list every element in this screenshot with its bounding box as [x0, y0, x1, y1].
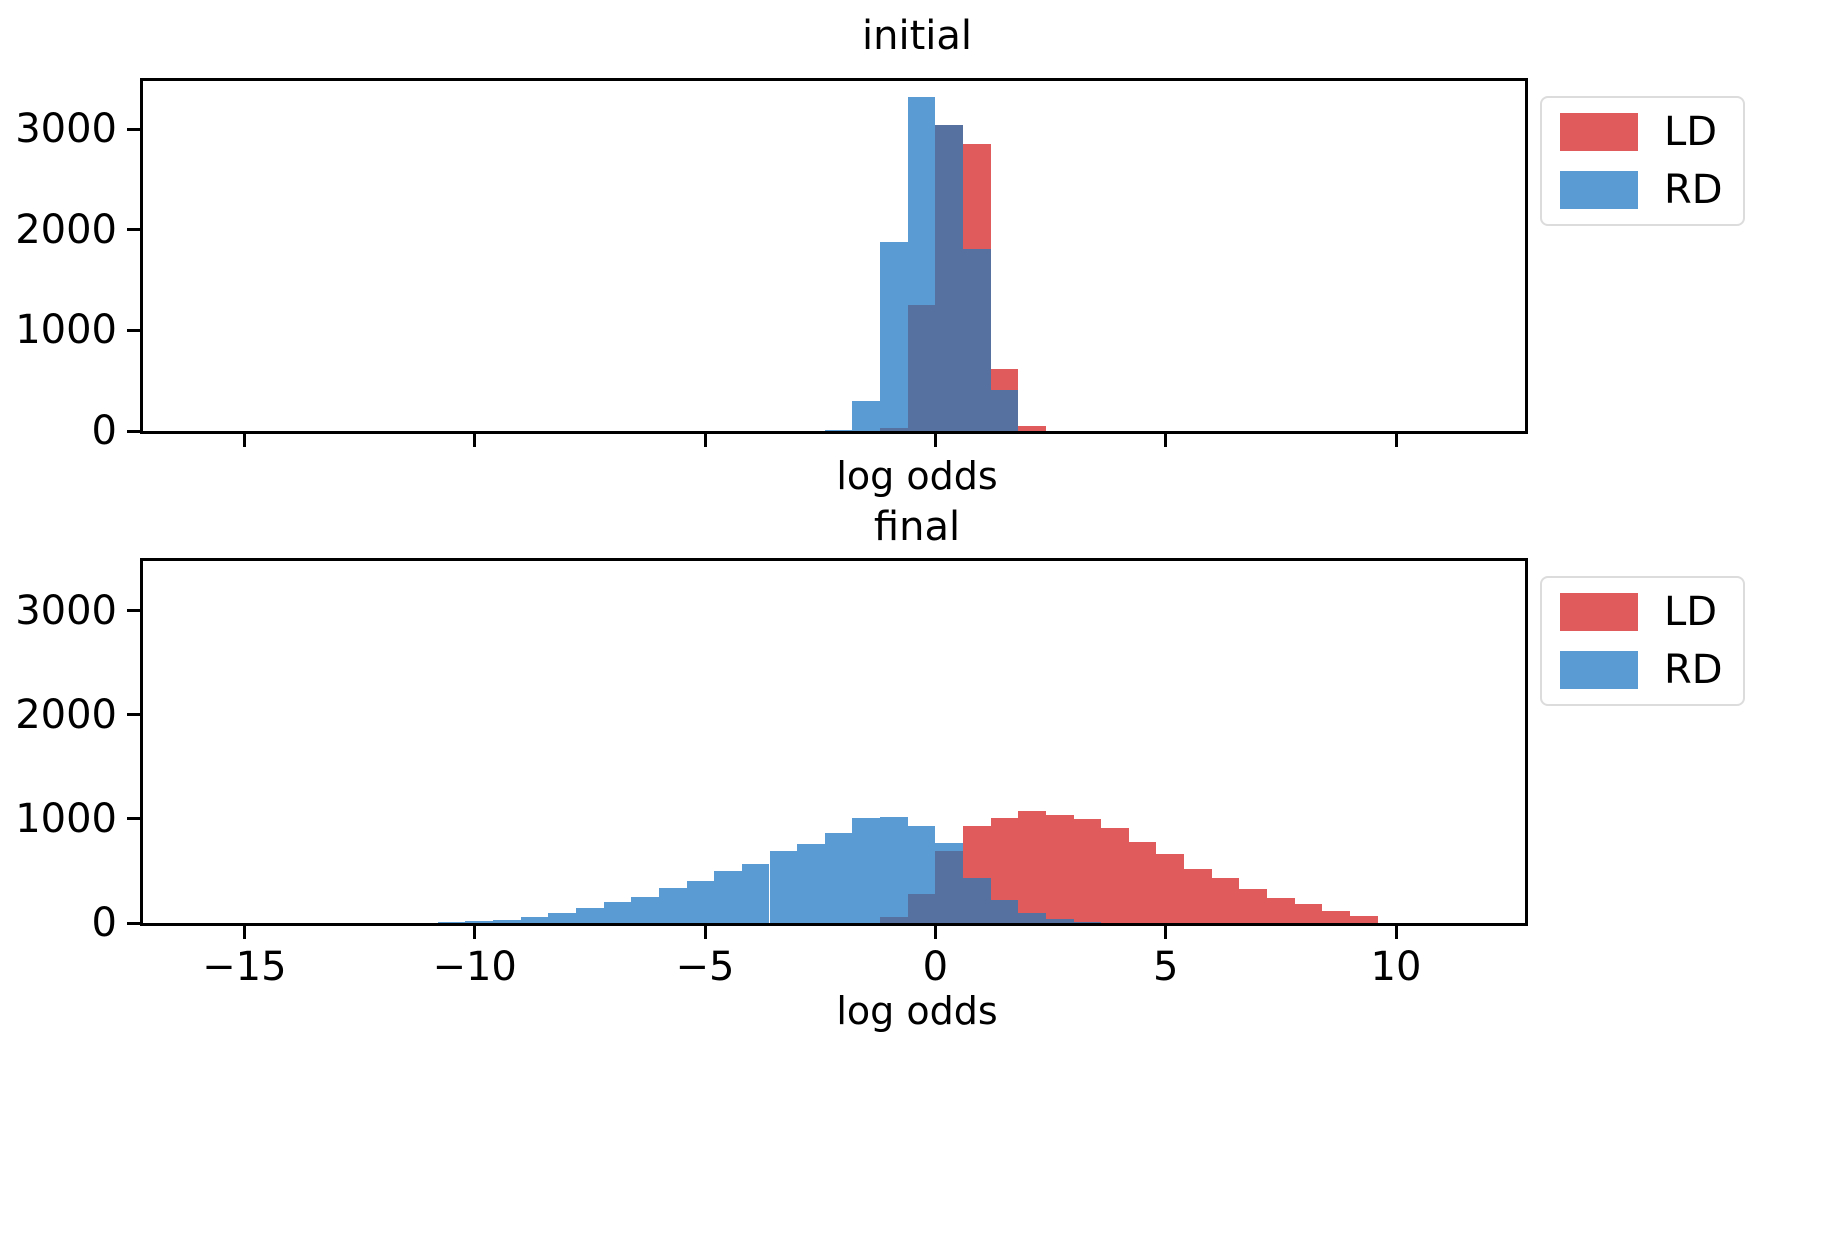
x-tick-label: −5	[676, 945, 735, 989]
histogram-bar-rd	[631, 897, 659, 923]
x-tick-mark	[704, 926, 707, 939]
subplot-title-initial: initial	[0, 14, 1834, 58]
histogram-bar-ld	[1322, 911, 1350, 923]
histogram-bar-overlap	[880, 428, 908, 431]
x-tick-mark	[473, 434, 476, 447]
subplot-title-final: final	[0, 505, 1834, 549]
xlabel-final: log odds	[0, 990, 1834, 1032]
histogram-bar-overlap	[1046, 919, 1074, 923]
histogram-bar-ld	[1018, 811, 1046, 923]
histogram-bar-rd	[770, 851, 798, 923]
histogram-bar-ld	[1129, 842, 1157, 923]
histogram-bar-overlap	[963, 249, 991, 431]
x-tick-label: 10	[1371, 945, 1422, 989]
histogram-bar-overlap	[963, 878, 991, 923]
histogram-bar-rd	[493, 920, 521, 923]
x-tick-mark	[934, 434, 937, 447]
histogram-bar-overlap	[935, 125, 963, 431]
histogram-bar-rd	[548, 913, 576, 923]
histogram-bar-rd	[852, 401, 880, 431]
histogram-bar-ld	[1239, 889, 1267, 923]
histogram-bar-rd	[465, 921, 493, 923]
matplotlib-figure: initial 0100020003000 log odds LD RD fin…	[0, 0, 1834, 1234]
subplot-final: final −15−10−505100100020003000 log odds…	[0, 500, 1834, 1234]
histogram-bar-overlap	[991, 900, 1019, 923]
histogram-bar-rd	[604, 902, 632, 923]
histogram-bar-ld	[1350, 916, 1378, 923]
histogram-bar-rd	[438, 922, 466, 923]
x-tick-mark	[1164, 434, 1167, 447]
y-tick-mark	[127, 609, 140, 612]
x-tick-label: 0	[923, 945, 948, 989]
x-tick-label: 5	[1153, 945, 1178, 989]
legend-label-ld: LD	[1664, 592, 1717, 632]
histogram-bar-rd	[576, 908, 604, 923]
histogram-bar-rd	[825, 430, 853, 431]
y-tick-label: 2000	[15, 693, 117, 737]
y-tick-mark	[127, 922, 140, 925]
histogram-bar-overlap	[880, 917, 908, 923]
legend-row-rd: RD	[1560, 650, 1723, 690]
legend-row-rd: RD	[1560, 170, 1723, 210]
legend-swatch-rd	[1560, 651, 1638, 689]
legend-final: LD RD	[1540, 576, 1745, 706]
x-tick-mark	[934, 926, 937, 939]
xlabel-initial: log odds	[0, 455, 1834, 497]
histogram-bar-overlap	[1018, 913, 1046, 923]
y-tick-label: 3000	[15, 107, 117, 151]
y-tick-mark	[127, 430, 140, 433]
x-tick-mark	[1395, 434, 1398, 447]
histogram-bar-overlap	[908, 305, 936, 431]
histogram-bar-rd	[714, 871, 742, 923]
y-tick-mark	[127, 228, 140, 231]
y-tick-label: 0	[92, 409, 117, 453]
histogram-bar-rd	[742, 864, 770, 923]
legend-swatch-ld	[1560, 113, 1638, 151]
legend-label-rd: RD	[1664, 650, 1723, 690]
x-tick-mark	[473, 926, 476, 939]
legend-swatch-ld	[1560, 593, 1638, 631]
histogram-bar-rd	[852, 818, 880, 923]
axes-final	[140, 558, 1528, 926]
axes-initial	[140, 78, 1528, 434]
x-tick-mark	[243, 926, 246, 939]
legend-initial: LD RD	[1540, 96, 1745, 226]
legend-swatch-rd	[1560, 171, 1638, 209]
y-tick-mark	[127, 713, 140, 716]
y-tick-label: 1000	[15, 797, 117, 841]
histogram-bar-overlap	[908, 894, 936, 923]
histogram-bar-ld	[1156, 854, 1184, 923]
histogram-bar-rd	[659, 888, 687, 923]
legend-label-rd: RD	[1664, 170, 1723, 210]
histogram-bar-overlap	[935, 851, 963, 923]
y-tick-label: 0	[92, 901, 117, 945]
x-tick-mark	[1395, 926, 1398, 939]
histogram-bar-overlap	[991, 390, 1019, 431]
histogram-bar-ld	[1184, 869, 1212, 923]
y-tick-mark	[127, 128, 140, 131]
legend-row-ld: LD	[1560, 112, 1723, 152]
histogram-bar-ld	[1295, 904, 1323, 923]
histogram-bar-rd	[797, 844, 825, 923]
histogram-bar-overlap	[1074, 922, 1102, 923]
x-tick-label: −10	[432, 945, 516, 989]
histogram-bar-ld	[1212, 878, 1240, 923]
histogram-bar-ld	[1101, 828, 1129, 923]
legend-label-ld: LD	[1664, 112, 1717, 152]
histogram-bar-ld	[1267, 898, 1295, 923]
y-tick-label: 2000	[15, 208, 117, 252]
y-tick-label: 3000	[15, 589, 117, 633]
histogram-bar-ld	[1046, 815, 1074, 923]
y-tick-mark	[127, 817, 140, 820]
y-tick-label: 1000	[15, 308, 117, 352]
histogram-bar-rd	[825, 833, 853, 924]
histogram-bar-rd	[687, 881, 715, 923]
x-tick-mark	[1164, 926, 1167, 939]
y-tick-mark	[127, 329, 140, 332]
histogram-bar-rd	[880, 817, 908, 923]
x-tick-mark	[704, 434, 707, 447]
plot-area-initial	[143, 81, 1525, 431]
histogram-bar-ld	[1074, 819, 1102, 923]
plot-area-final	[143, 561, 1525, 923]
legend-row-ld: LD	[1560, 592, 1723, 632]
x-tick-label: −15	[202, 945, 286, 989]
histogram-bar-ld	[1018, 426, 1046, 431]
histogram-bar-rd	[880, 242, 908, 431]
x-tick-mark	[243, 434, 246, 447]
histogram-bar-rd	[521, 917, 549, 923]
subplot-initial: initial 0100020003000 log odds LD RD	[0, 0, 1834, 520]
